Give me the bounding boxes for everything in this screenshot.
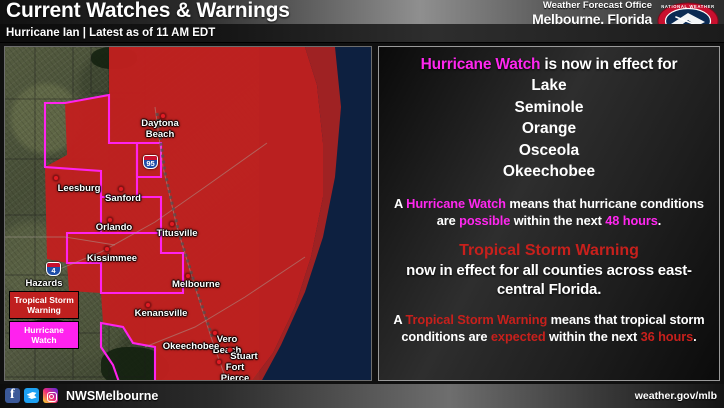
warning-duration: 36 hours bbox=[641, 329, 694, 344]
city-dot-kissimmee bbox=[104, 246, 110, 252]
city-label-fort-pierce: Fort Pierce bbox=[210, 363, 260, 381]
svg-text:NATIONAL WEATHER: NATIONAL WEATHER bbox=[661, 4, 715, 9]
city-label-titusville: Titusville bbox=[144, 229, 210, 240]
page-title: Current Watches & Warnings bbox=[6, 0, 290, 23]
city-label-leesburg: Leesburg bbox=[48, 184, 110, 195]
hurricane-watch-county-list: Lake Seminole Orange Osceola Okeechobee bbox=[387, 75, 711, 183]
city-label-orlando: Orlando bbox=[83, 223, 145, 234]
city-label-sanford: Sanford bbox=[92, 194, 154, 205]
watch-duration: 48 hours bbox=[605, 213, 658, 228]
city-dot-sanford bbox=[118, 186, 124, 192]
legend-title: Hazards bbox=[9, 278, 79, 289]
hurricane-watch-term: Hurricane Watch bbox=[421, 56, 541, 73]
weather-graphic: Current Watches & Warnings Weather Forec… bbox=[0, 0, 724, 408]
social-handle: NWSMelbourne bbox=[66, 389, 158, 403]
twitter-icon[interactable] bbox=[24, 388, 39, 403]
office-label: Weather Forecast Office bbox=[481, 1, 652, 11]
legend-item-tropical-storm-warning: Tropical Storm Warning bbox=[9, 291, 79, 319]
county-lake: Lake bbox=[387, 75, 711, 97]
county-orange: Orange bbox=[387, 118, 711, 140]
city-dot-leesburg bbox=[53, 175, 59, 181]
nws-seal-icon: NATIONAL WEATHER SERVICE bbox=[657, 2, 719, 24]
city-label-melbourne: Melbourne bbox=[161, 280, 231, 291]
tropical-storm-warning-headline: Tropical Storm Warning bbox=[387, 241, 711, 261]
city-label-daytona-beach: Daytona Beach bbox=[124, 119, 196, 140]
subheader-bar: Hurricane Ian | Latest as of 11 AM EDT bbox=[0, 24, 724, 43]
county-okeechobee: Okeechobee bbox=[387, 161, 711, 183]
interstate-95-shield: 95 bbox=[143, 155, 158, 169]
tropical-storm-warning-definition: A Tropical Storm Warning means that trop… bbox=[387, 311, 711, 345]
hurricane-watch-definition: A Hurricane Watch means that hurricane c… bbox=[387, 195, 711, 229]
expected-emphasis: expected bbox=[491, 329, 546, 344]
city-dot-titusville bbox=[169, 221, 175, 227]
tropical-storm-warning-subline: now in effect for all counties across ea… bbox=[387, 261, 711, 299]
header-bar: Current Watches & Warnings Weather Forec… bbox=[0, 0, 724, 24]
instagram-icon[interactable] bbox=[43, 388, 58, 403]
map-legend: Hazards Tropical Storm Warning Hurricane… bbox=[9, 278, 79, 349]
event-subtitle: Hurricane Ian | Latest as of 11 AM EDT bbox=[6, 27, 215, 39]
legend-item-hurricane-watch: Hurricane Watch bbox=[9, 321, 79, 349]
facebook-icon[interactable] bbox=[5, 388, 20, 403]
county-seminole: Seminole bbox=[387, 97, 711, 119]
city-label-okeechobee: Okeechobee bbox=[153, 342, 229, 353]
footer-url[interactable]: weather.gov/mlb bbox=[635, 390, 717, 402]
office-name: Melbourne, Florida bbox=[481, 12, 652, 25]
footer-bar: NWSMelbourne weather.gov/mlb bbox=[0, 384, 724, 408]
city-label-stuart: Stuart bbox=[217, 352, 271, 363]
hazard-text-panel: Hurricane Watch is now in effect for Lak… bbox=[378, 46, 720, 381]
social-links[interactable]: NWSMelbourne bbox=[5, 388, 158, 403]
possible-emphasis: possible bbox=[459, 213, 510, 228]
hurricane-watch-headline: Hurricane Watch is now in effect for bbox=[387, 54, 711, 75]
hurricane-watch-headline-rest: is now in effect for bbox=[540, 56, 677, 73]
county-osceola: Osceola bbox=[387, 140, 711, 162]
hazard-map[interactable]: 95 4 Daytona Beach Leesburg Sanford Orla… bbox=[4, 46, 372, 381]
hurricane-watch-term-inline: Hurricane Watch bbox=[406, 196, 506, 211]
weather-forecast-office-block: Weather Forecast Office Melbourne, Flori… bbox=[481, 1, 652, 24]
city-label-kenansville: Kenansville bbox=[123, 309, 199, 320]
tropical-storm-warning-term-inline: Tropical Storm Warning bbox=[406, 312, 548, 327]
city-label-kissimmee: Kissimmee bbox=[79, 254, 145, 265]
interstate-4-shield: 4 bbox=[46, 262, 61, 276]
